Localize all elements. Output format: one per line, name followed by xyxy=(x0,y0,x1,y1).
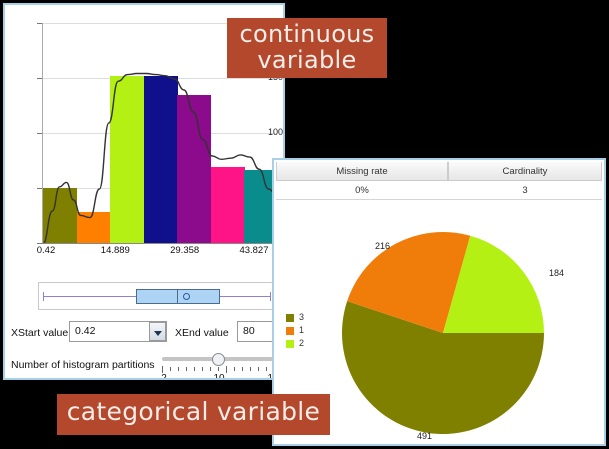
slider-tick xyxy=(210,367,211,371)
x-range-fields: XStart value 0.42 XEnd value 80 xyxy=(9,321,283,345)
boxplot-left-cap xyxy=(43,292,44,301)
xstart-label: XStart value xyxy=(11,327,68,339)
legend-label: 2 xyxy=(299,338,304,348)
table-cell-missing-rate: 0% xyxy=(276,181,448,200)
slider-tick xyxy=(162,366,163,373)
slider-tick xyxy=(186,367,187,371)
histogram-partitions-control: Number of histogram partitions 2 10 18 xyxy=(9,353,283,380)
slider-tick xyxy=(266,367,267,371)
legend-label: 3 xyxy=(299,312,304,322)
slider-tick xyxy=(194,367,195,371)
callout-continuous-variable: continuous variable xyxy=(227,18,387,78)
boxplot-mean-marker xyxy=(183,293,190,300)
y-tick-mark xyxy=(37,23,42,24)
y-tick-label: 100 xyxy=(249,128,283,137)
y-tick-mark xyxy=(37,78,42,79)
partitions-tick-2: 2 xyxy=(152,373,176,380)
slider-tick xyxy=(178,367,179,371)
slider-tick xyxy=(242,367,243,371)
xstart-dropdown-button[interactable] xyxy=(149,322,166,341)
slider-tick xyxy=(234,367,235,371)
slider-tick xyxy=(202,367,203,371)
pie-slice-value: 184 xyxy=(549,268,564,278)
partitions-label: Number of histogram partitions xyxy=(11,359,155,371)
partitions-tick-10: 10 xyxy=(207,373,231,380)
pie-chart xyxy=(340,230,546,436)
callout-continuous-line1: continuous xyxy=(227,22,387,48)
slider-tick xyxy=(170,367,171,371)
slider-tick xyxy=(250,367,251,371)
pie-slice-value: 491 xyxy=(417,431,432,441)
boxplot-box[interactable] xyxy=(136,289,220,304)
slider-tick xyxy=(218,367,219,371)
callout-categorical-variable: categorical variable xyxy=(57,394,330,435)
chevron-down-icon xyxy=(154,331,162,336)
slider-tick xyxy=(226,366,227,373)
x-tick-label: 0.42 xyxy=(16,245,76,256)
summary-stats-table: Missing rate Cardinality 0% 3 xyxy=(276,162,602,204)
legend-swatch-icon xyxy=(286,327,294,335)
x-tick-label: 14.889 xyxy=(85,245,145,256)
partitions-slider-thumb[interactable] xyxy=(212,353,225,366)
partitions-tick-marks xyxy=(162,366,285,373)
range-boxplot-widget[interactable] xyxy=(38,282,276,310)
callout-continuous-line2: variable xyxy=(227,48,387,74)
legend-swatch-icon xyxy=(286,314,294,322)
table-cell-cardinality: 3 xyxy=(448,181,602,200)
y-tick-mark xyxy=(37,133,42,134)
table-header-missing-rate: Missing rate xyxy=(276,162,448,181)
legend-swatch-icon xyxy=(286,340,294,348)
slider-tick xyxy=(258,367,259,371)
x-tick-label: 29.358 xyxy=(155,245,215,256)
boxplot-median-line xyxy=(177,289,178,304)
pie-slice-value: 216 xyxy=(375,241,390,251)
y-tick-mark xyxy=(37,188,42,189)
boxplot-right-cap xyxy=(270,292,271,301)
histogram-x-axis-line xyxy=(42,243,278,244)
xend-label: XEnd value xyxy=(175,327,229,339)
table-header-cardinality: Cardinality xyxy=(448,162,602,181)
legend-label: 1 xyxy=(299,325,304,335)
